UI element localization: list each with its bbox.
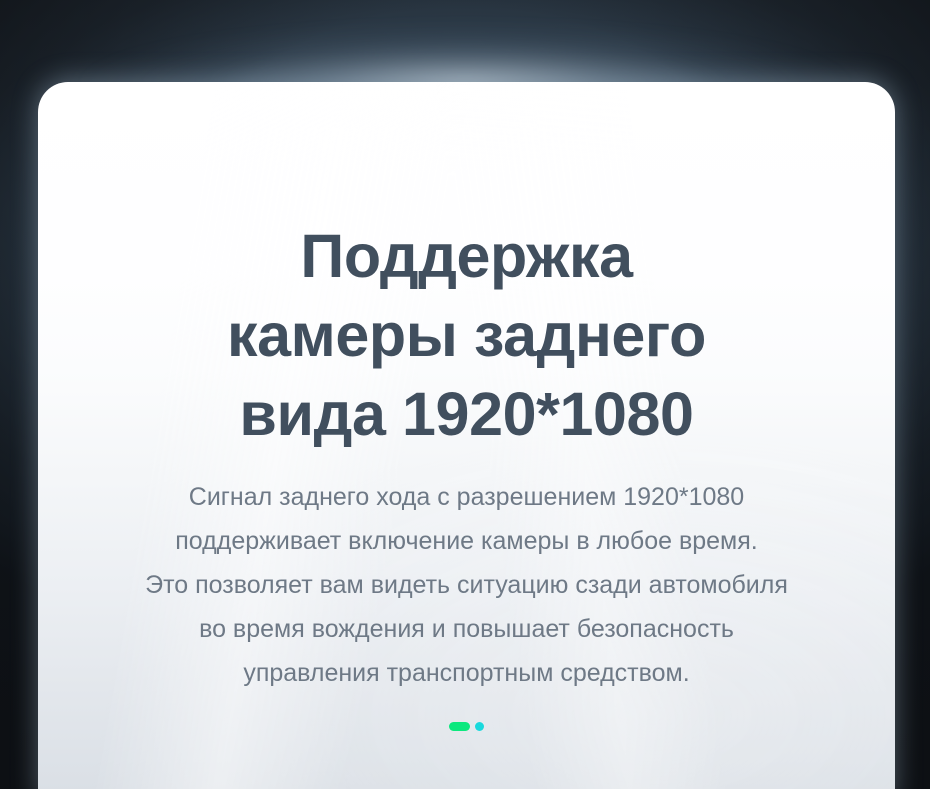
carousel-pagination[interactable] [38,722,895,731]
pagination-dot-1[interactable] [475,722,484,731]
slide-screen: Поддержка камеры заднего вида 1920*1080 … [0,0,930,789]
content-card: Поддержка камеры заднего вида 1920*1080 … [38,82,895,789]
feature-description: Сигнал заднего хода с разрешением 1920*1… [38,475,895,695]
page-title: Поддержка камеры заднего вида 1920*1080 [38,217,895,454]
pagination-dot-active[interactable] [449,722,470,731]
